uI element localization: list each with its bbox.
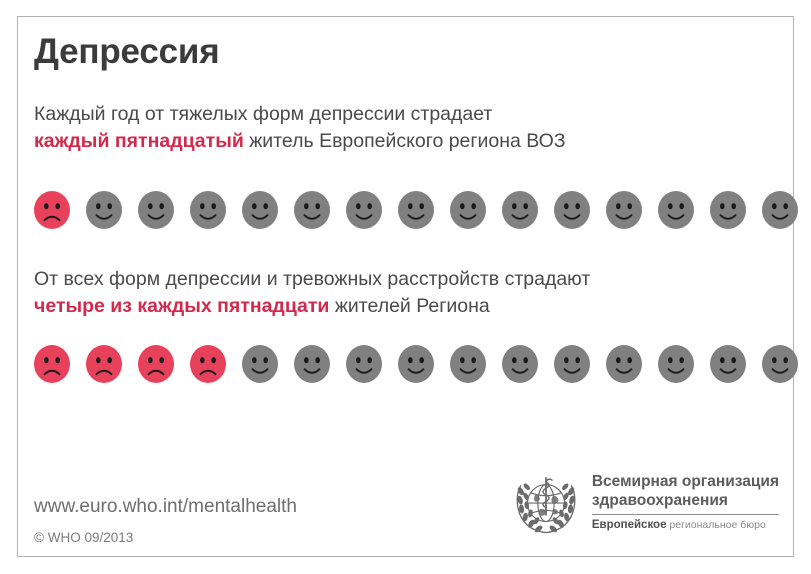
statement-block-2: От всех форм депрессии и тревожных расст… <box>34 266 590 320</box>
happy-face-icon <box>398 191 434 229</box>
sad-face-icon <box>34 345 70 383</box>
happy-face-icon <box>294 345 330 383</box>
statement-2-line-2: четыре из каждых пятнадцати жителей Реги… <box>34 293 590 320</box>
happy-face-icon <box>502 345 538 383</box>
sad-face-icon <box>34 191 70 229</box>
statement-1-highlight: каждый пятнадцатый <box>34 130 244 152</box>
poster-card: Депрессия Каждый год от тяжелых форм деп… <box>17 16 794 557</box>
sad-face-icon <box>86 345 122 383</box>
statement-1-line-2: каждый пятнадцатый житель Европейского р… <box>34 128 566 155</box>
happy-face-icon <box>450 191 486 229</box>
statement-1-rest: житель Европейского региона ВОЗ <box>244 130 566 152</box>
page-title: Депрессия <box>34 33 219 72</box>
copyright-text: © WHO 09/2013 <box>34 530 133 545</box>
pictogram-row-2 <box>34 344 798 384</box>
happy-face-icon <box>606 191 642 229</box>
statement-1-line-1: Каждый год от тяжелых форм депрессии стр… <box>34 101 566 128</box>
happy-face-icon <box>450 345 486 383</box>
happy-face-icon <box>190 191 226 229</box>
happy-face-icon <box>398 345 434 383</box>
happy-face-icon <box>554 191 590 229</box>
statement-2-rest: жителей Региона <box>329 295 489 317</box>
happy-face-icon <box>242 345 278 383</box>
who-emblem-icon <box>509 469 583 543</box>
happy-face-icon <box>710 345 746 383</box>
happy-face-icon <box>502 191 538 229</box>
happy-face-icon <box>86 191 122 229</box>
sad-face-icon <box>190 345 226 383</box>
happy-face-icon <box>554 345 590 383</box>
happy-face-icon <box>762 191 798 229</box>
who-org-line-2: здравоохранения <box>592 491 779 510</box>
happy-face-icon <box>606 345 642 383</box>
who-wordmark: Всемирная организация здравоохранения Ев… <box>592 467 779 532</box>
who-logo: Всемирная организация здравоохранения Ев… <box>509 467 779 545</box>
who-region-line: Европейское региональное бюро <box>592 518 779 532</box>
who-region-rest: региональное бюро <box>666 519 765 531</box>
happy-face-icon <box>658 191 694 229</box>
happy-face-icon <box>242 191 278 229</box>
website-url[interactable]: www.euro.who.int/mentalhealth <box>34 496 297 518</box>
statement-2-line-1: От всех форм депрессии и тревожных расст… <box>34 266 590 293</box>
sad-face-icon <box>138 345 174 383</box>
happy-face-icon <box>346 345 382 383</box>
who-region-bold: Европейское <box>592 519 667 531</box>
statement-2-highlight: четыре из каждых пятнадцати <box>34 295 329 317</box>
who-org-line-1: Всемирная организация <box>592 472 779 491</box>
happy-face-icon <box>346 191 382 229</box>
happy-face-icon <box>294 191 330 229</box>
happy-face-icon <box>762 345 798 383</box>
statement-block-1: Каждый год от тяжелых форм депрессии стр… <box>34 101 566 155</box>
happy-face-icon <box>658 345 694 383</box>
pictogram-row-1 <box>34 190 798 230</box>
who-divider <box>592 514 779 515</box>
happy-face-icon <box>138 191 174 229</box>
happy-face-icon <box>710 191 746 229</box>
